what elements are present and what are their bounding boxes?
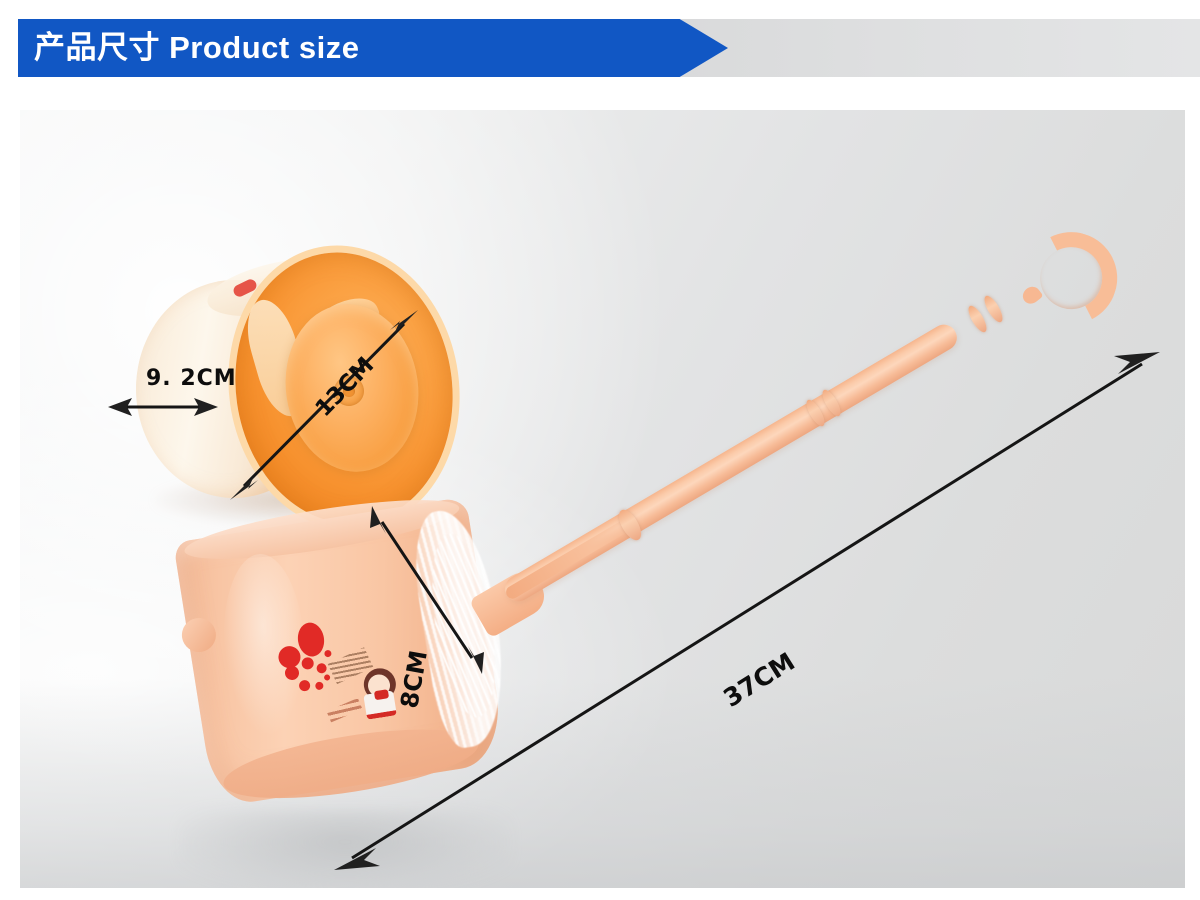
page-title: 产品尺寸 Product size (34, 19, 359, 77)
banner-tail-shape (680, 19, 1200, 77)
product-photo: 9. 2CM 13CM (20, 110, 1185, 888)
dimension-arrow-total-length (20, 110, 1185, 888)
header-banner: 产品尺寸 Product size (0, 0, 1200, 100)
